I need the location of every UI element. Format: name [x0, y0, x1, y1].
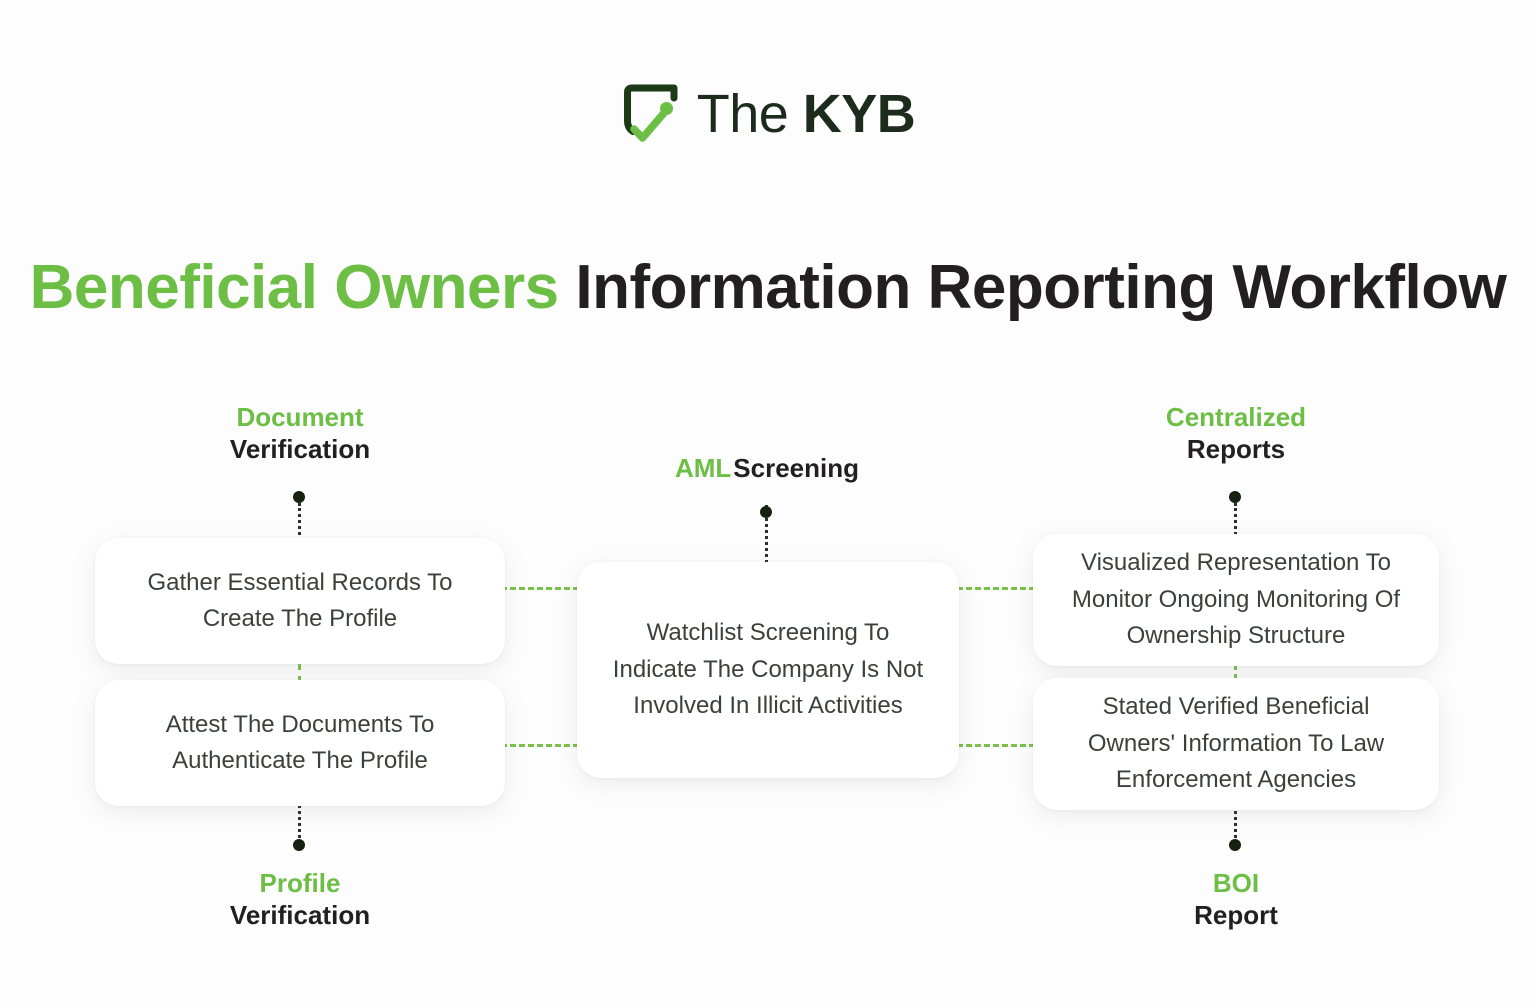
connector-aml-screening-dot [760, 506, 772, 518]
card-aml-screening: Watchlist Screening To Indicate The Comp… [577, 562, 959, 778]
stage-label-rest: Report [1086, 900, 1386, 932]
card-document-verification: Gather Essential Records To Create The P… [95, 538, 505, 664]
connector-center-to-right-bottom [957, 744, 1035, 747]
card-text: Attest The Documents To Authenticate The… [129, 707, 471, 780]
card-centralized-reports: Visualized Representation To Monitor Ong… [1033, 534, 1439, 666]
card-text: Gather Essential Records To Create The P… [129, 565, 471, 638]
stage-label-document-verification: Document Verification [150, 402, 450, 465]
connector-left-bottom-to-center [501, 744, 579, 747]
connector-boi-report-line [1234, 804, 1237, 844]
workflow-diagram: Document Verification AMLScreening Centr… [0, 0, 1536, 1008]
card-profile-verification: Attest The Documents To Authenticate The… [95, 680, 505, 806]
stage-label-boi-report: BOI Report [1086, 868, 1386, 931]
card-text: Watchlist Screening To Indicate The Comp… [611, 615, 925, 724]
stage-label-accent: Profile [150, 868, 450, 900]
card-text: Visualized Representation To Monitor Ong… [1067, 545, 1405, 654]
card-boi-report: Stated Verified Beneficial Owners' Infor… [1033, 678, 1439, 810]
stage-label-rest: Verification [150, 434, 450, 466]
stage-label-accent: Document [150, 402, 450, 434]
stage-label-rest: Verification [150, 900, 450, 932]
stage-label-accent: AML [675, 453, 731, 483]
connector-profile-verification-dot [293, 839, 305, 851]
connector-document-verification-dot [293, 491, 305, 503]
connector-left-top-to-center [501, 587, 579, 590]
stage-label-rest: Screening [733, 453, 859, 483]
connector-boi-report-dot [1229, 839, 1241, 851]
stage-label-aml-screening: AMLScreening [617, 453, 917, 485]
stage-label-rest: Reports [1086, 434, 1386, 466]
connector-centralized-reports-dot [1229, 491, 1241, 503]
stage-label-accent: BOI [1086, 868, 1386, 900]
card-text: Stated Verified Beneficial Owners' Infor… [1067, 689, 1405, 798]
stage-label-centralized-reports: Centralized Reports [1086, 402, 1386, 465]
stage-label-profile-verification: Profile Verification [150, 868, 450, 931]
connector-center-to-right-top [957, 587, 1035, 590]
connector-profile-verification-line [298, 800, 301, 844]
stage-label-accent: Centralized [1086, 402, 1386, 434]
